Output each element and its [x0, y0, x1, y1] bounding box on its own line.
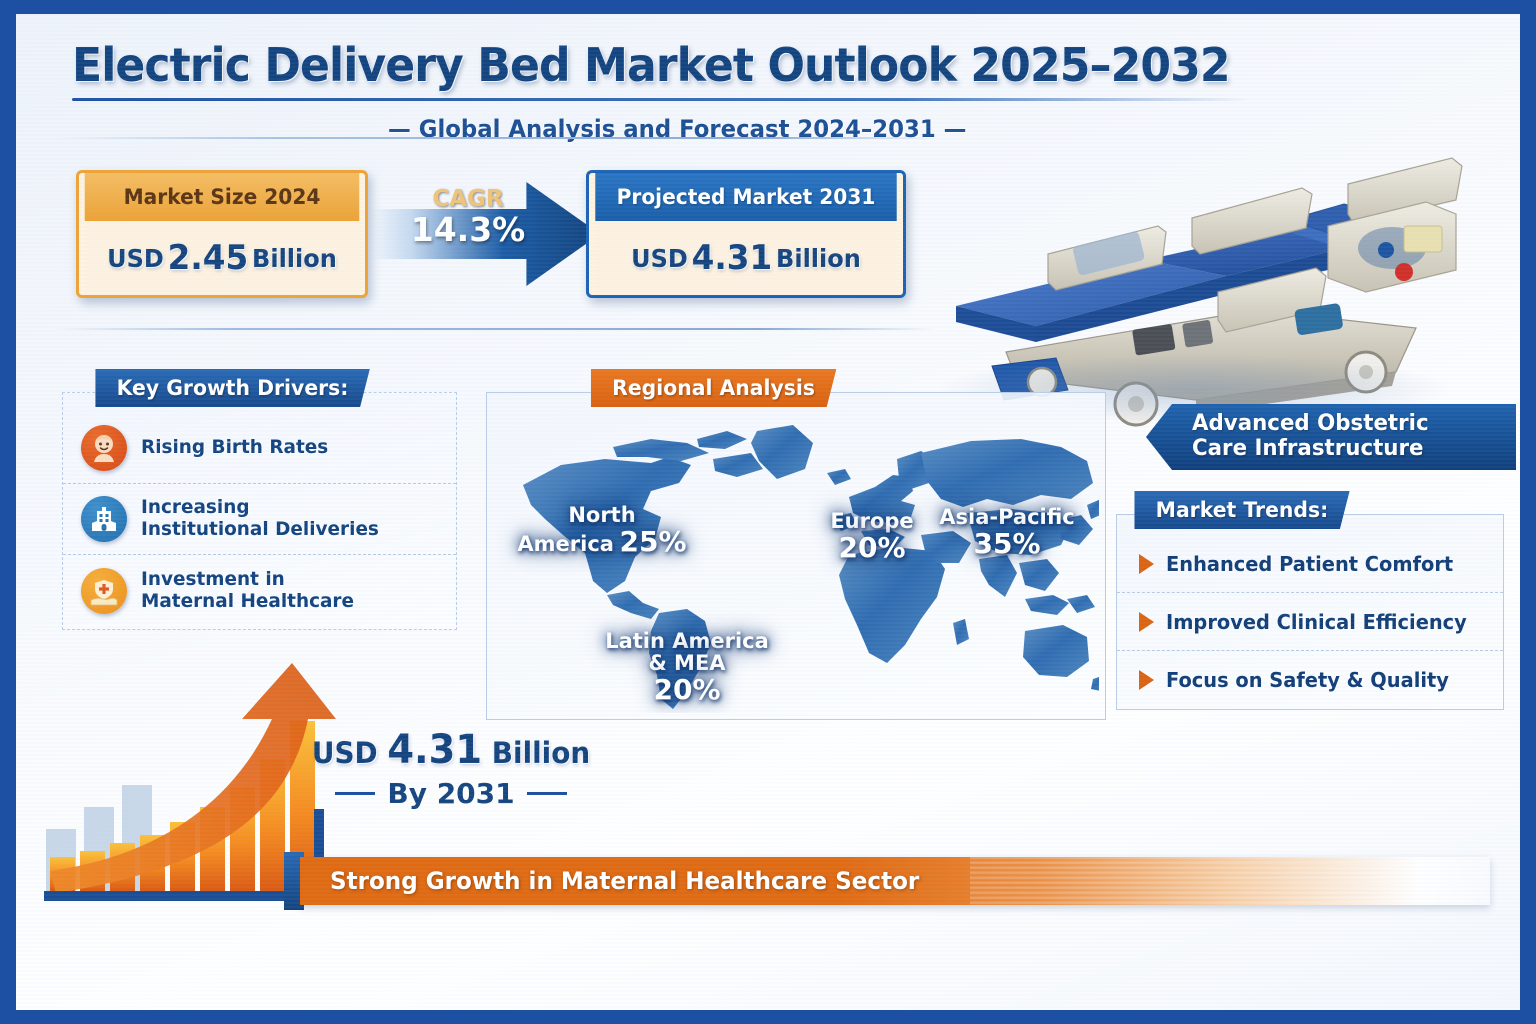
trend-item-safety-quality[interactable]: Focus on Safety & Quality	[1117, 651, 1503, 709]
key-growth-drivers-panel: Key Growth Drivers: Rising Birth Ra	[62, 392, 457, 630]
market-size-label: Market Size	[124, 185, 258, 209]
projected-market-card: Projected Market 2031 USD 4.31 Billion	[586, 170, 906, 298]
growth-number: 4.31	[387, 727, 482, 773]
right-dash-rule	[527, 792, 567, 795]
title-divider	[72, 98, 1252, 101]
market-size-unit: Billion	[252, 244, 337, 273]
triangle-bullet-icon	[1139, 612, 1154, 632]
region-tag-europe: Europe 20%	[817, 511, 927, 562]
product-caption-line2: Care Infrastructure	[1192, 437, 1506, 462]
page-title: Electric Delivery Bed Market Outlook 202…	[72, 38, 1253, 92]
driver-item-institutional-deliveries[interactable]: IncreasingInstitutional Deliveries	[63, 484, 456, 555]
baby-icon	[81, 425, 127, 471]
projected-market-label: Projected Market	[617, 185, 813, 209]
market-size-value: USD 2.45 Billion	[85, 221, 360, 295]
growth-unit: Billion	[492, 736, 590, 770]
market-size-currency: USD	[107, 244, 164, 273]
triangle-bullet-icon	[1139, 670, 1154, 690]
left-dash-rule	[335, 792, 375, 795]
product-caption-ribbon: Advanced Obstetric Care Infrastructure	[1146, 404, 1516, 470]
cagr-value: 14.3%	[388, 213, 548, 246]
projected-number: 4.31	[692, 238, 773, 278]
market-size-card-header: Market Size 2024	[85, 173, 360, 221]
hospital-icon	[81, 496, 127, 542]
market-size-year: 2024	[264, 185, 320, 209]
bottom-banner: Strong Growth in Maternal Healthcare Sec…	[300, 857, 1490, 905]
section-divider-top	[56, 137, 936, 139]
driver-item-birth-rates[interactable]: Rising Birth Rates	[63, 413, 456, 484]
region-pct-north-america: 25%	[620, 525, 687, 558]
cagr-block: CAGR 14.3%	[388, 188, 548, 246]
trend-label-clinical-efficiency: Improved Clinical Efficiency	[1166, 610, 1467, 634]
section-divider-kpi	[56, 328, 936, 330]
market-trends-header: Market Trends:	[1134, 491, 1349, 529]
trend-item-patient-comfort[interactable]: Enhanced Patient Comfort	[1117, 535, 1503, 593]
key-growth-drivers-header: Key Growth Drivers:	[95, 369, 370, 407]
projected-market-year: 2031	[819, 185, 875, 209]
infographic-root: Electric Delivery Bed Market Outlook 202…	[0, 0, 1536, 1024]
region-pct-europe: 20%	[817, 533, 927, 562]
projected-currency: USD	[631, 244, 688, 273]
growth-value-line: USD 4.31 Billion	[293, 727, 610, 773]
market-trends-list: Enhanced Patient Comfort Improved Clinic…	[1117, 535, 1503, 709]
trend-item-clinical-efficiency[interactable]: Improved Clinical Efficiency	[1117, 593, 1503, 651]
market-size-card: Market Size 2024 USD 2.45 Billion	[76, 170, 368, 298]
trend-label-safety-quality: Focus on Safety & Quality	[1166, 668, 1449, 692]
growth-by-label: By 2031	[387, 777, 514, 810]
projected-unit: Billion	[776, 244, 861, 273]
triangle-bullet-icon	[1139, 554, 1154, 574]
region-name-north-america: North	[517, 505, 687, 527]
bottom-banner-text: Strong Growth in Maternal Healthcare Sec…	[330, 867, 919, 895]
market-size-number: 2.45	[168, 238, 249, 278]
cagr-label: CAGR	[388, 188, 548, 211]
market-trends-panel: Market Trends: Enhanced Patient Comfort …	[1116, 514, 1504, 710]
growth-year-line: By 2031	[286, 777, 616, 810]
infographic-canvas: Electric Delivery Bed Market Outlook 202…	[16, 14, 1520, 1010]
kpi-row: Market Size 2024 USD 2.45 Billion CAGR 1…	[58, 156, 908, 316]
region-tag-north-america: North America 25%	[517, 505, 687, 556]
projected-market-value: USD 4.31 Billion	[595, 221, 896, 295]
trend-label-patient-comfort: Enhanced Patient Comfort	[1166, 552, 1453, 576]
key-growth-drivers-list: Rising Birth Rates	[63, 413, 456, 626]
region-name-asia-pacific: Asia-Pacific	[927, 507, 1087, 529]
projected-market-card-header: Projected Market 2031	[595, 173, 896, 221]
growth-value-block: USD 4.31 Billion By 2031	[286, 727, 616, 810]
region-name-latam: Latin America	[597, 631, 777, 653]
region-tag-asia-pacific: Asia-Pacific 35%	[927, 507, 1087, 558]
region-name-europe: Europe	[817, 511, 927, 533]
driver-label-institutional-deliveries: IncreasingInstitutional Deliveries	[141, 497, 379, 541]
product-caption-line1: Advanced Obstetric	[1192, 412, 1506, 437]
hand-care-icon	[81, 568, 127, 614]
growth-currency: USD	[312, 736, 378, 770]
driver-label-maternal-investment: Investment inMaternal Healthcare	[141, 569, 354, 613]
driver-label-birth-rates: Rising Birth Rates	[141, 437, 328, 459]
driver-item-maternal-investment[interactable]: Investment inMaternal Healthcare	[63, 555, 456, 626]
region-pct-asia-pacific: 35%	[927, 529, 1087, 558]
region-name-north-america-2: America	[517, 532, 614, 556]
